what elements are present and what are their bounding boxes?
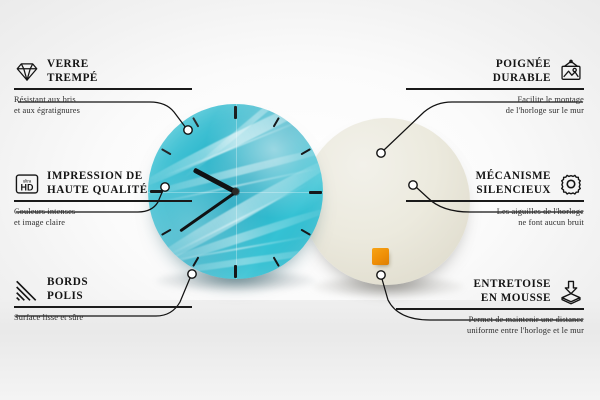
clock-center-cap	[232, 188, 239, 195]
feature-foam-spacer[interactable]: ENTRETOISE EN MOUSSE Permet de maintenir…	[396, 278, 584, 336]
feature-desc-line2: et aux égratignures	[14, 105, 192, 116]
feature-desc-line1: Facilite le montage	[406, 94, 584, 105]
feature-tempered-glass[interactable]: VERRE TREMPÉ Résistant aux bris et aux é…	[14, 58, 192, 116]
feature-header: BORDS POLIS	[14, 276, 192, 303]
feature-title: VERRE TREMPÉ	[47, 58, 98, 85]
feature-divider	[406, 88, 584, 89]
feature-title: ENTRETOISE EN MOUSSE	[473, 278, 551, 305]
clock-tick	[235, 192, 237, 278]
feature-desc-line2: ne font aucun bruit	[406, 217, 584, 228]
feature-desc-line1: Surface lisse et sûre	[14, 312, 192, 323]
feature-title: BORDS POLIS	[47, 276, 88, 303]
feature-desc-line2: uniforme entre l'horloge et le mur	[396, 325, 584, 336]
feature-header: VERRE TREMPÉ	[14, 58, 192, 85]
feature-desc-line1: Les aiguilles de l'horloge	[406, 206, 584, 217]
feature-header: ENTRETOISE EN MOUSSE	[396, 278, 584, 305]
feature-polished-edges[interactable]: BORDS POLIS Surface lisse et sûre	[14, 276, 192, 323]
feature-desc-line2: et image claire	[14, 217, 192, 228]
diamond-icon	[14, 59, 40, 85]
clock-tick	[235, 106, 237, 192]
foam-spacer-pad	[372, 248, 389, 265]
feature-divider	[14, 200, 192, 201]
feature-header: ultra HD IMPRESSION DE HAUTE QUALITÉ	[14, 170, 192, 197]
feature-silent-mechanism[interactable]: MÉCANISME SILENCIEUX Les aiguilles de l'…	[406, 170, 584, 228]
feature-title: IMPRESSION DE HAUTE QUALITÉ	[47, 170, 148, 197]
feature-title: POIGNÉE DURABLE	[493, 58, 551, 85]
ultra-hd-icon: ultra HD	[14, 171, 40, 197]
clock-tick	[236, 191, 322, 193]
feature-header: POIGNÉE DURABLE	[406, 58, 584, 85]
feature-header: MÉCANISME SILENCIEUX	[406, 170, 584, 197]
gear-icon	[558, 171, 584, 197]
feature-print-quality[interactable]: ultra HD IMPRESSION DE HAUTE QUALITÉ Cou…	[14, 170, 192, 228]
feature-desc-line1: Couleurs intenses	[14, 206, 192, 217]
foam-stack-arrow-icon	[558, 279, 584, 305]
picture-hanger-icon	[558, 59, 584, 85]
feature-desc-line2: de l'horloge sur le mur	[406, 105, 584, 116]
feature-title: MÉCANISME SILENCIEUX	[476, 170, 551, 197]
feature-desc-line1: Résistant aux bris	[14, 94, 192, 105]
svg-text:HD: HD	[21, 182, 34, 192]
feature-divider	[396, 308, 584, 309]
feature-divider	[406, 200, 584, 201]
diagonal-lines-icon	[14, 277, 40, 303]
feature-desc-line1: Permet de maintenir une distance	[396, 314, 584, 325]
feature-divider	[14, 88, 192, 89]
feature-divider	[14, 306, 192, 307]
feature-durable-hanger[interactable]: POIGNÉE DURABLE Facilite le montage de l…	[406, 58, 584, 116]
